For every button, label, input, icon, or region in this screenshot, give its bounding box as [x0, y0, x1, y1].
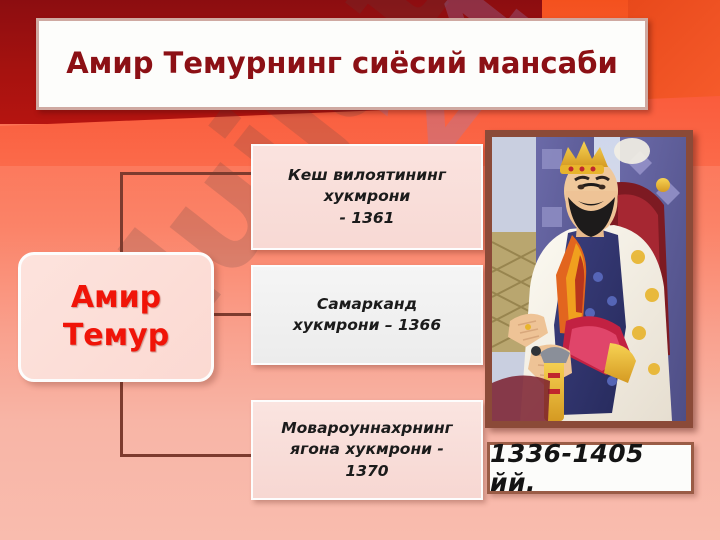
stage-box-kesh: Кеш вилоятининг хукмрони - 1361	[251, 144, 483, 250]
date-range-box: 1336-1405 йй.	[487, 442, 694, 494]
stage-label: Кеш вилоятининг хукмрони - 1361	[280, 165, 454, 229]
stage-label: Самарканд хукмрони – 1366	[285, 294, 449, 337]
slide-canvas: Hujjat 24 Амир Темурнинг сиёсий мансаби …	[0, 0, 720, 540]
stage-label: Мовароуннахрнинг ягона хукмрони - 1370	[273, 418, 461, 482]
portrait-frame	[485, 130, 693, 428]
portrait-illustration	[492, 137, 686, 421]
slide-title-box: Амир Темурнинг сиёсий мансаби	[36, 18, 648, 110]
date-range-label: 1336-1405 йй.	[490, 439, 691, 497]
portrait-amir-temur	[492, 137, 686, 421]
root-node-label: Амир Темур	[21, 279, 211, 356]
root-node-amir-temur: Амир Темур	[18, 252, 214, 382]
stage-box-movarounnahr: Мовароуннахрнинг ягона хукмрони - 1370	[251, 400, 483, 500]
page-title: Амир Темурнинг сиёсий мансаби	[52, 46, 632, 81]
stage-box-samarkand: Самарканд хукмрони – 1366	[251, 265, 483, 365]
